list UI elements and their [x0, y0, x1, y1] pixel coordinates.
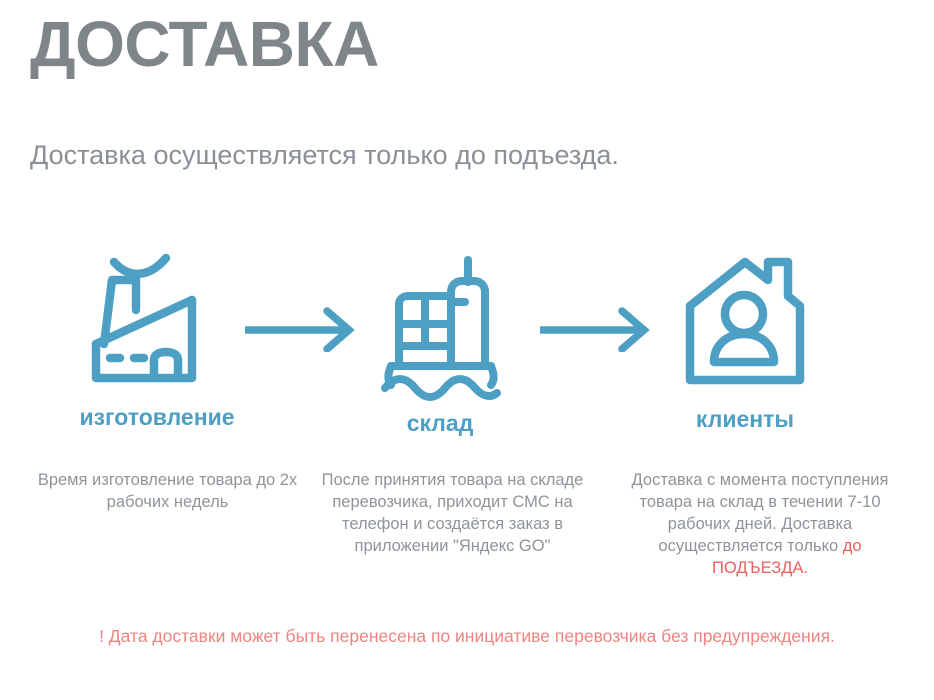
- delivery-slide: ДОСТАВКА Доставка осуществляется только …: [0, 0, 934, 700]
- flow-stage-manufacturing: изготовление: [57, 248, 257, 438]
- stage-description-clients: Доставка с момента поступления товара на…: [615, 470, 905, 580]
- flow-stage-warehouse: склад: [340, 248, 540, 438]
- cargo-ship-icon: [365, 254, 515, 404]
- stage-description-manufacturing: Время изготовление товара до 2х рабочих …: [35, 470, 300, 514]
- flow-stage-label-clients: клиенты: [696, 406, 794, 433]
- page-title: ДОСТАВКА: [30, 8, 379, 82]
- flow-stage-label-manufacturing: изготовление: [79, 404, 234, 431]
- stage-description-warehouse: После принятия товара на складе перевозч…: [305, 470, 600, 558]
- stage-descriptions: Время изготовление товара до 2х рабочих …: [0, 470, 934, 600]
- arrow-right-icon: [540, 306, 660, 352]
- flow-stage-label-warehouse: склад: [407, 410, 474, 437]
- delivery-flow-diagram: изготовление: [0, 248, 934, 438]
- page-subtitle: Доставка осуществляется только до подъез…: [30, 136, 630, 174]
- factory-icon: [82, 248, 232, 398]
- flow-stage-clients: клиенты: [645, 248, 845, 438]
- footer-warning-note: ! Дата доставки может быть перенесена по…: [47, 625, 887, 649]
- house-person-icon: [670, 250, 820, 400]
